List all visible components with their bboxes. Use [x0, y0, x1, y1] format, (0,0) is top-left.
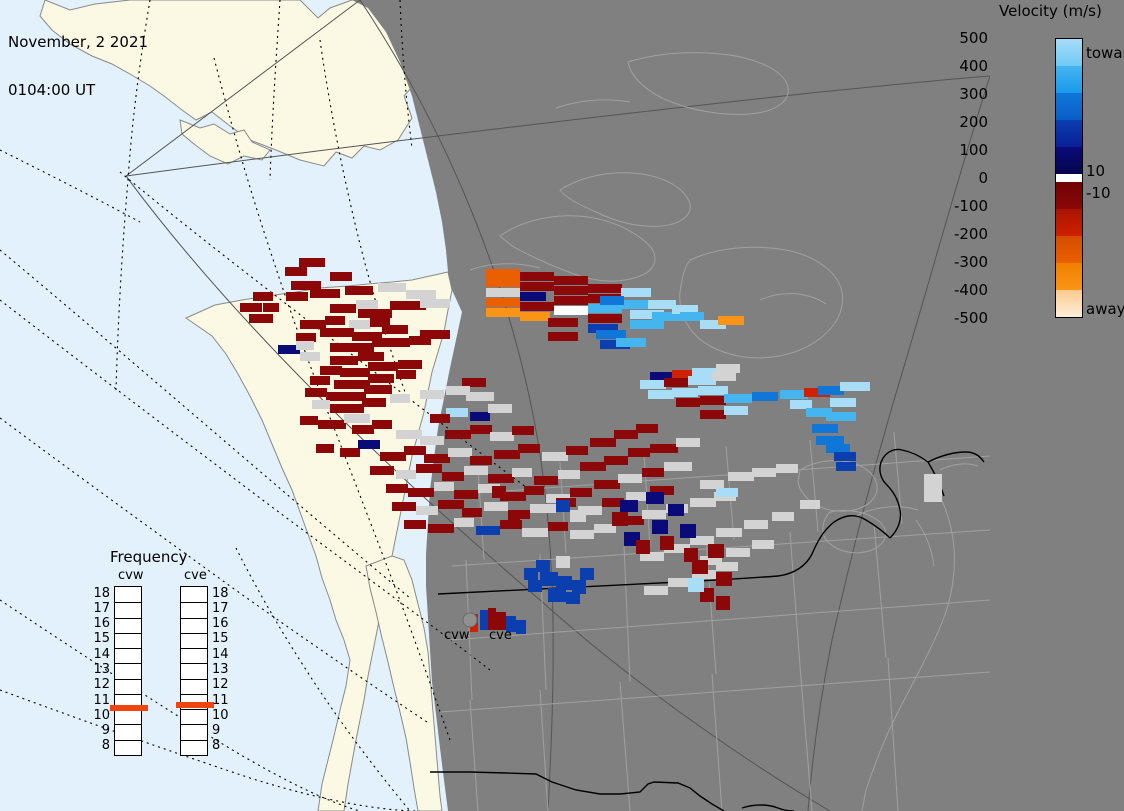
gauge-tick-label: 16: [212, 617, 230, 630]
map-canvas[interactable]: November, 2 2021 0104:00 UT cvw cve Freq…: [0, 0, 990, 811]
gauge-gridline: [115, 618, 141, 619]
gauge-value-marker: [176, 702, 214, 708]
gauge-gridline: [115, 694, 141, 695]
gauge-label-cvw: cvw: [118, 568, 143, 583]
colorbar-zero-band: [1056, 174, 1082, 182]
site-label-cve: cve: [489, 629, 512, 643]
gauge-tick-label: 11: [92, 694, 110, 707]
colorbar-tick-label: -200: [928, 225, 988, 243]
timestamp: November, 2 2021 0104:00 UT: [8, 2, 148, 130]
colorbar-tick-label: 300: [928, 85, 988, 103]
gauge-gridline: [115, 663, 141, 664]
colorbar-segment-negative: [1056, 263, 1082, 290]
gauge-gridline: [115, 740, 141, 741]
gauge-tick-label: 11: [212, 694, 230, 707]
gauge-gridline: [115, 679, 141, 680]
gauge-gridline: [181, 679, 207, 680]
gauge-gridline: [181, 602, 207, 603]
colorbar-segment-negative: [1056, 182, 1082, 209]
colorbar-segment-negative: [1056, 290, 1082, 317]
gauge-tick-label: 9: [212, 724, 230, 737]
gauge-gridline: [181, 618, 207, 619]
gauge-tick-label: 15: [212, 632, 230, 645]
colorbar-away-label: away: [1086, 300, 1124, 318]
gauge-tick-label: 10: [92, 709, 110, 722]
gauge-gridline: [115, 648, 141, 649]
frequency-gauge-cve[interactable]: [180, 586, 208, 756]
colorbar-tick-label: 100: [928, 141, 988, 159]
gauge-tick-label: 16: [92, 617, 110, 630]
gauge-tick-label: 12: [212, 678, 230, 691]
gauge-tick-label: 15: [92, 632, 110, 645]
gauge-gridline: [181, 648, 207, 649]
gauge-tick-label: 12: [92, 678, 110, 691]
colorbar-segment-negative: [1056, 236, 1082, 263]
site-label-cvw: cvw: [444, 629, 469, 643]
colorbar-toward-label: toward: [1086, 44, 1124, 62]
frequency-gauge-cvw[interactable]: [114, 586, 142, 756]
colorbar-tick-label: -500: [928, 309, 988, 327]
gauge-gridline: [181, 694, 207, 695]
gauge-gridline: [181, 709, 207, 710]
gauge-value-marker: [110, 705, 148, 711]
gauge-tick-label: 13: [92, 663, 110, 676]
colorbar-tick-label: -300: [928, 253, 988, 271]
gauge-gridline: [115, 602, 141, 603]
gauge-tick-label: 14: [212, 648, 230, 661]
gauge-gridline: [181, 724, 207, 725]
colorbar-panel: Velocity (m/s) 5004003002001000-100-200-…: [990, 0, 1124, 811]
gauge-label-cve: cve: [184, 568, 207, 583]
gauge-gridline: [181, 633, 207, 634]
gauge-tick-label: 18: [212, 587, 230, 600]
colorbar-tick-label: 0: [928, 169, 988, 187]
gauge-tick-label: 9: [92, 724, 110, 737]
colorbar-segment-positive: [1056, 93, 1082, 120]
colorbar-positive-threshold: 10: [1086, 162, 1105, 180]
frequency-title: Frequency: [110, 548, 188, 566]
colorbar-divider: [1056, 317, 1082, 318]
colorbar-tick-label: 500: [928, 29, 988, 47]
gauge-tick-label: 17: [212, 602, 230, 615]
gauge-tick-label: 8: [92, 739, 110, 752]
colorbar-tick-label: 200: [928, 113, 988, 131]
frequency-panel: Frequency cvw cve 18171615141312111098 1…: [96, 548, 246, 788]
gauge-tick-label: 14: [92, 648, 110, 661]
gauge-tick-label: 13: [212, 663, 230, 676]
gauge-gridline: [115, 633, 141, 634]
colorbar-title: Velocity (m/s): [999, 2, 1102, 20]
colorbar-gradient[interactable]: [1055, 38, 1083, 318]
gauge-tick-label: 18: [92, 587, 110, 600]
colorbar-tick-label: 400: [928, 57, 988, 75]
superdarn-velocity-map-window: November, 2 2021 0104:00 UT cvw cve Freq…: [0, 0, 1124, 811]
colorbar-segment-positive: [1056, 39, 1082, 66]
colorbar-segment-positive: [1056, 66, 1082, 93]
gauge-tick-label: 8: [212, 739, 230, 752]
timestamp-date: November, 2 2021: [8, 34, 148, 50]
gauge-tick-label: 17: [92, 602, 110, 615]
gauge-gridline: [181, 663, 207, 664]
gauge-gridline: [115, 724, 141, 725]
colorbar-tick-label: -100: [928, 197, 988, 215]
gauge-gridline: [181, 740, 207, 741]
colorbar-segment-positive: [1056, 147, 1082, 174]
gauge-tick-label: 10: [212, 709, 230, 722]
timestamp-time: 0104:00 UT: [8, 82, 148, 98]
colorbar-negative-threshold: -10: [1086, 184, 1111, 202]
colorbar-segment-negative: [1056, 209, 1082, 236]
colorbar-tick-label: -400: [928, 281, 988, 299]
colorbar-segment-positive: [1056, 120, 1082, 147]
